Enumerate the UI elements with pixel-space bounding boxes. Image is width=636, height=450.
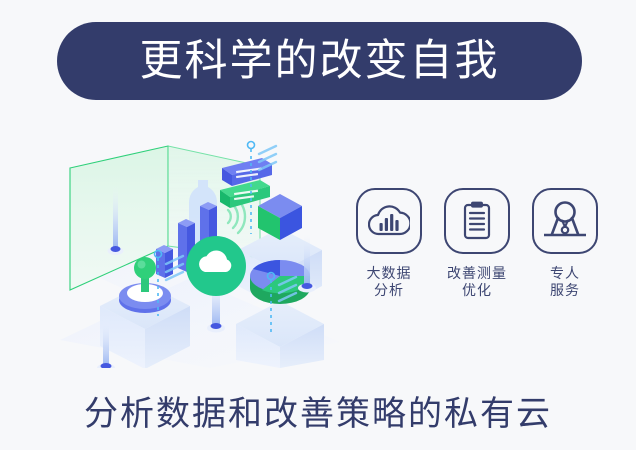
feature-item-dedicated-service[interactable]: 专人 服务	[528, 188, 602, 300]
feature-label-line-1: 专人	[550, 266, 580, 283]
feature-label-line-1: 改善测量	[447, 266, 507, 283]
support-person-icon-frame	[532, 188, 598, 254]
feature-label-line-1: 大数据	[367, 266, 412, 283]
cloud-bar-chart-icon-frame	[356, 188, 422, 254]
cloud-bar-chart-icon	[368, 202, 410, 240]
title-banner: 更科学的改变自我	[57, 22, 582, 100]
poster-canvas: 更科学的改变自我	[0, 0, 636, 450]
pie-chart-3d	[250, 260, 310, 304]
feature-label-dedicated-service: 专人 服务	[550, 266, 580, 300]
clipboard-icon-frame	[444, 188, 510, 254]
support-person-icon	[542, 200, 588, 242]
feature-item-improvement-measurement[interactable]: 改善测量 优化	[440, 188, 514, 300]
feature-label-improvement-measurement: 改善测量 优化	[447, 266, 507, 300]
isometric-illustration	[40, 128, 370, 368]
footer-headline: 分析数据和改善策略的私有云	[0, 386, 636, 435]
feature-item-big-data-analysis[interactable]: 大数据 分析	[352, 188, 426, 300]
feature-label-line-2: 服务	[550, 283, 580, 300]
clipboard-icon	[458, 200, 496, 242]
banner-title: 更科学的改变自我	[140, 40, 500, 83]
cube	[258, 194, 302, 240]
feature-label-line-2: 优化	[447, 283, 507, 300]
feature-list: 大数据 分析 改善测量 优化	[352, 188, 602, 300]
feature-label-big-data-analysis: 大数据 分析	[367, 266, 412, 300]
feature-label-line-2: 分析	[367, 283, 412, 300]
